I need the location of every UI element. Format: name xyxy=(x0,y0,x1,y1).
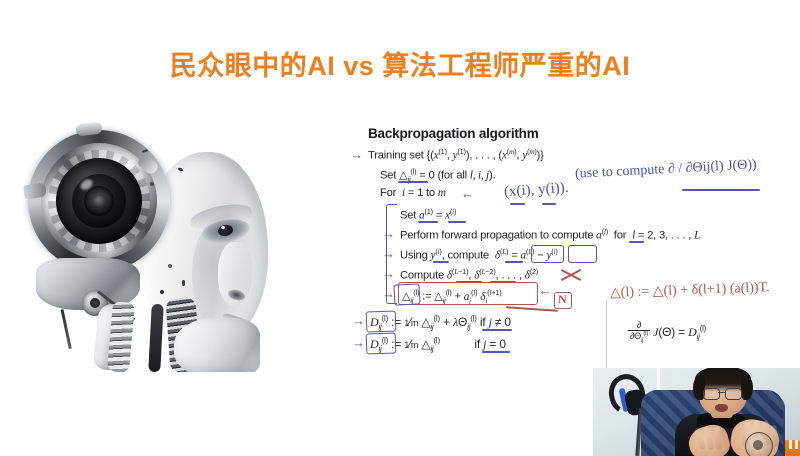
line-set-a1: Set a(1) = x(i) xyxy=(400,207,456,222)
robot-panel-detail xyxy=(182,280,185,286)
slide-page-divider xyxy=(606,300,607,370)
channel-watermark-inner xyxy=(753,440,763,450)
annotation-n-label: N xyxy=(558,292,567,307)
annotation-underline-a1 xyxy=(418,221,438,223)
robot-shoulder-plate xyxy=(174,318,260,372)
line-partial-derivative: ∂ ∂Θij(l) J(Θ) = Dij(l) xyxy=(628,321,706,344)
robot-panel-detail xyxy=(132,234,135,237)
robot-jaw-pivot-core xyxy=(90,298,100,308)
annotation-arrow-d-unreg: → xyxy=(352,336,365,349)
annotation-box-d-unreg xyxy=(366,332,397,354)
annotation-underline-xi xyxy=(510,203,525,205)
annotation-underline-delta xyxy=(398,181,428,183)
glasses-bridge xyxy=(718,392,725,393)
annotation-arrow-to-n: ← xyxy=(538,284,552,300)
camera-lens-center xyxy=(94,196,105,207)
corner-brand-logo-bar xyxy=(789,440,792,449)
annotation-use-to-compute: (use to compute ∂ / ∂Θij(l) J(Θ)) xyxy=(575,157,757,182)
line-compute-delta-rest: Compute δ(L−1), δ(L−2), . . . , δ(2) xyxy=(400,267,538,282)
line-forward-prop: Perform forward propagation to compute a… xyxy=(400,227,700,242)
corner-brand-logo-bar xyxy=(795,440,798,449)
page-title: 民众眼中的AI vs 算法工程师严重的AI xyxy=(0,44,800,83)
robot-actuator-rod-lower xyxy=(61,309,72,349)
lecture-video-frame: 民众眼中的AI vs 算法工程师严重的AI xyxy=(0,0,800,456)
presenter-webcam-overlay[interactable] xyxy=(593,368,800,456)
line-for-loop: For i = 1 to m xyxy=(380,187,446,199)
robot-panel-detail xyxy=(150,182,154,186)
annotation-vectorized-delta: △(l) := △(l) + δ(l+1) (a(l))T. xyxy=(610,279,770,302)
annotation-red-connector xyxy=(506,306,558,311)
annotation-arrow-delta-rest: → xyxy=(382,267,395,280)
annotation-arrow-forward-prop: → xyxy=(382,227,395,240)
annotation-box-d-reg xyxy=(366,310,397,332)
annotation-underline-yi xyxy=(542,203,556,205)
presenter-mouth xyxy=(715,404,728,412)
annotation-underline-use-compute xyxy=(682,189,760,191)
glasses-left-lens xyxy=(703,388,720,400)
annotation-arrow-training-set: → xyxy=(350,148,363,161)
line-training-set: Training set {(x(1), y(1)), . . . , (x(m… xyxy=(368,147,544,162)
presenter-hair-right xyxy=(741,376,753,400)
robot-neck-vertebrae xyxy=(107,301,135,372)
annotation-box-yi xyxy=(568,245,597,263)
annotation-underline-jeq0 xyxy=(482,351,510,353)
annotation-arrow-for-loop: ← xyxy=(461,186,474,202)
robot-eye-highlight xyxy=(221,226,225,229)
annotation-underline-yi-3 xyxy=(433,261,449,263)
backpropagation-slide: Backpropagation algorithm → Training set… xyxy=(356,126,800,370)
robot-panel-detail xyxy=(160,290,164,294)
annotation-box-aL xyxy=(531,245,564,263)
annotation-underline-xi-2 xyxy=(448,221,466,223)
annotation-arrow-delta-L: → xyxy=(382,247,395,260)
robot-neck-cable xyxy=(148,304,164,372)
glasses-right-lens xyxy=(725,388,742,400)
annotation-underline-al xyxy=(629,241,644,243)
robot-head-image xyxy=(22,122,312,372)
annotation-underline-jneq0 xyxy=(482,329,512,331)
annotation-underline-deltaL xyxy=(505,261,523,263)
annotation-box-delta-lhs xyxy=(393,283,420,305)
annotation-xi-yi: (x(i), y(i)). xyxy=(503,180,569,201)
robot-panel-detail xyxy=(168,264,172,268)
slide-heading: Backpropagation algorithm xyxy=(368,126,539,141)
annotation-arrow-d-reg: → xyxy=(352,314,365,327)
